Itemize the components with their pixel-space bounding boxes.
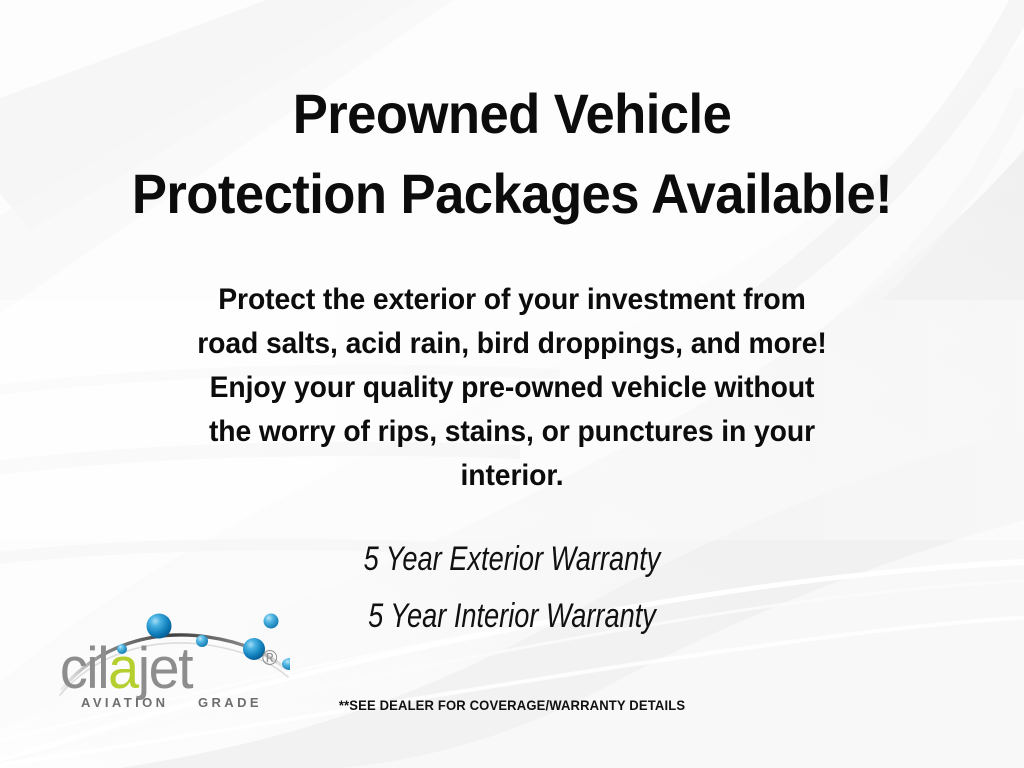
tagline-grade: GRADE <box>198 695 262 710</box>
wordmark-prefix: cil <box>60 637 108 701</box>
droplet-small-mid <box>196 635 208 647</box>
body-copy: Protect the exterior of your investment … <box>20 278 1003 498</box>
body-line-3: Enjoy your quality pre-owned vehicle wit… <box>20 366 1003 410</box>
body-line-4: the worry of rips, stains, or punctures … <box>20 410 1003 454</box>
droplet-small-upper <box>264 614 279 629</box>
slide-canvas: Preowned Vehicle Protection Packages Ava… <box>0 0 1024 768</box>
body-line-2: road salts, acid rain, bird droppings, a… <box>20 322 1003 366</box>
cilajet-logo: cilajet ® AVIATION GRADE <box>58 583 290 711</box>
page-title: Preowned Vehicle Protection Packages Ava… <box>31 74 994 234</box>
svg-text:cilajet: cilajet <box>60 637 194 701</box>
wordmark-accent: a <box>108 637 139 701</box>
tagline-aviation: AVIATION <box>81 695 168 710</box>
headline-line-1: Preowned Vehicle <box>31 74 994 154</box>
wordmark-suffix: jet <box>136 637 194 701</box>
registered-mark-icon: ® <box>262 647 278 670</box>
body-line-5: interior. <box>20 454 1003 498</box>
body-line-1: Protect the exterior of your investment … <box>20 278 1003 322</box>
headline-line-2: Protection Packages Available! <box>31 154 994 234</box>
droplet-large-left <box>147 614 172 639</box>
warranty-exterior: 5 Year Exterior Warranty <box>102 531 921 588</box>
